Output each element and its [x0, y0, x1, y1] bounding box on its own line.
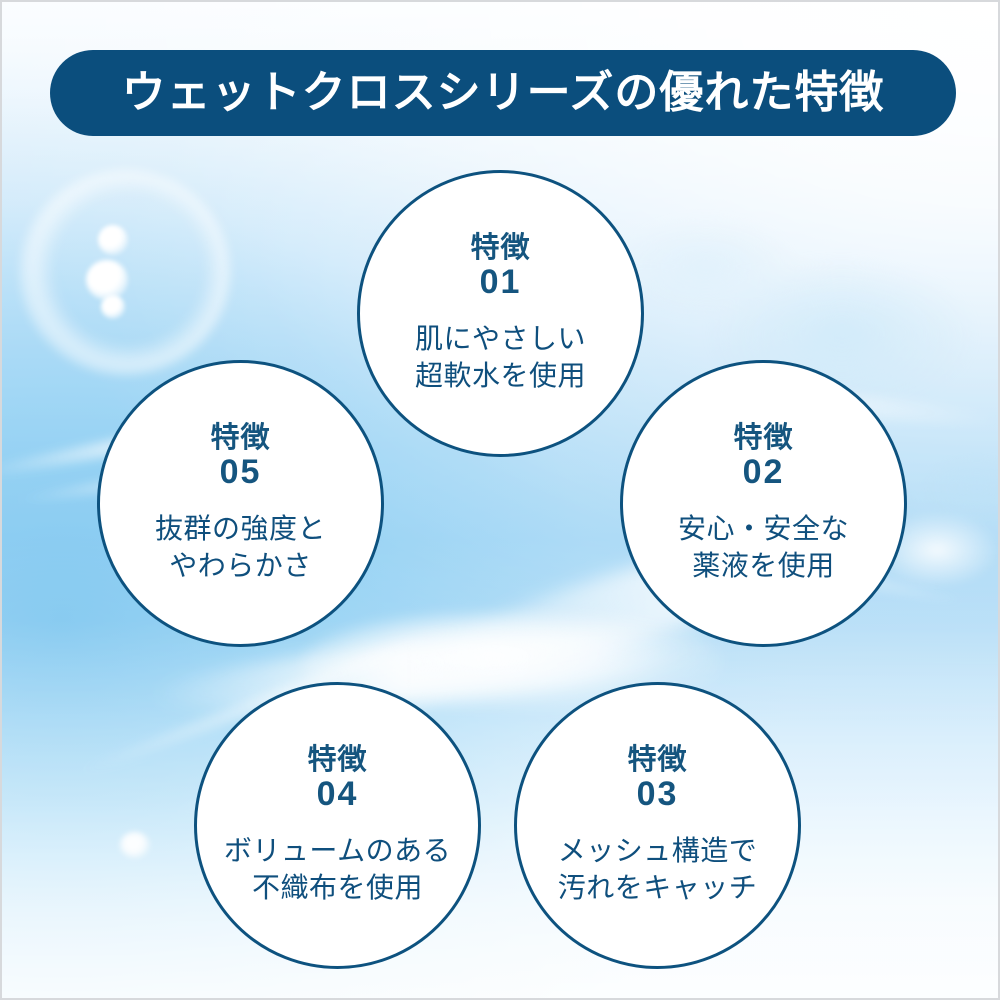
feature-body-04: ボリュームのある 不織布を使用: [224, 833, 451, 907]
page-title: ウェットクロスシリーズの優れた特徴: [122, 71, 885, 115]
background-bubble-small-top: [98, 225, 128, 255]
feature-label-05: 特徴: [210, 422, 270, 454]
feature-label-02: 特徴: [733, 422, 793, 454]
feature-number-04: 04: [317, 776, 359, 813]
feature-body-03: メッシュ構造で 汚れをキャッチ: [558, 833, 758, 907]
title-banner: ウェットクロスシリーズの優れた特徴: [50, 50, 956, 136]
background-bubble-lower-left: [120, 832, 150, 858]
feature-label-01: 特徴: [470, 232, 530, 264]
feature-body-05: 抜群の強度と やわらかさ: [155, 511, 326, 585]
feature-number-01: 01: [480, 264, 522, 301]
feature-infographic-page: ウェットクロスシリーズの優れた特徴 特徴 01 肌にやさしい 超軟水を使用 特徴…: [0, 0, 1000, 1000]
feature-body-01: 肌にやさしい 超軟水を使用: [415, 321, 586, 395]
feature-number-02: 02: [743, 454, 785, 491]
feature-label-04: 特徴: [307, 744, 367, 776]
background-bubble-large: [86, 260, 128, 300]
feature-circle-03: 特徴 03 メッシュ構造で 汚れをキャッチ: [514, 682, 801, 969]
feature-number-03: 03: [637, 776, 679, 813]
feature-body-02: 安心・安全な 薬液を使用: [678, 511, 849, 585]
feature-circle-04: 特徴 04 ボリュームのある 不織布を使用: [194, 682, 481, 969]
feature-label-03: 特徴: [627, 744, 687, 776]
feature-circle-05: 特徴 05 抜群の強度と やわらかさ: [97, 360, 384, 647]
background-bubble-small-bottom: [101, 295, 125, 319]
feature-number-05: 05: [220, 454, 262, 491]
feature-circle-01: 特徴 01 肌にやさしい 超軟水を使用: [357, 170, 644, 457]
feature-circle-02: 特徴 02 安心・安全な 薬液を使用: [620, 360, 907, 647]
